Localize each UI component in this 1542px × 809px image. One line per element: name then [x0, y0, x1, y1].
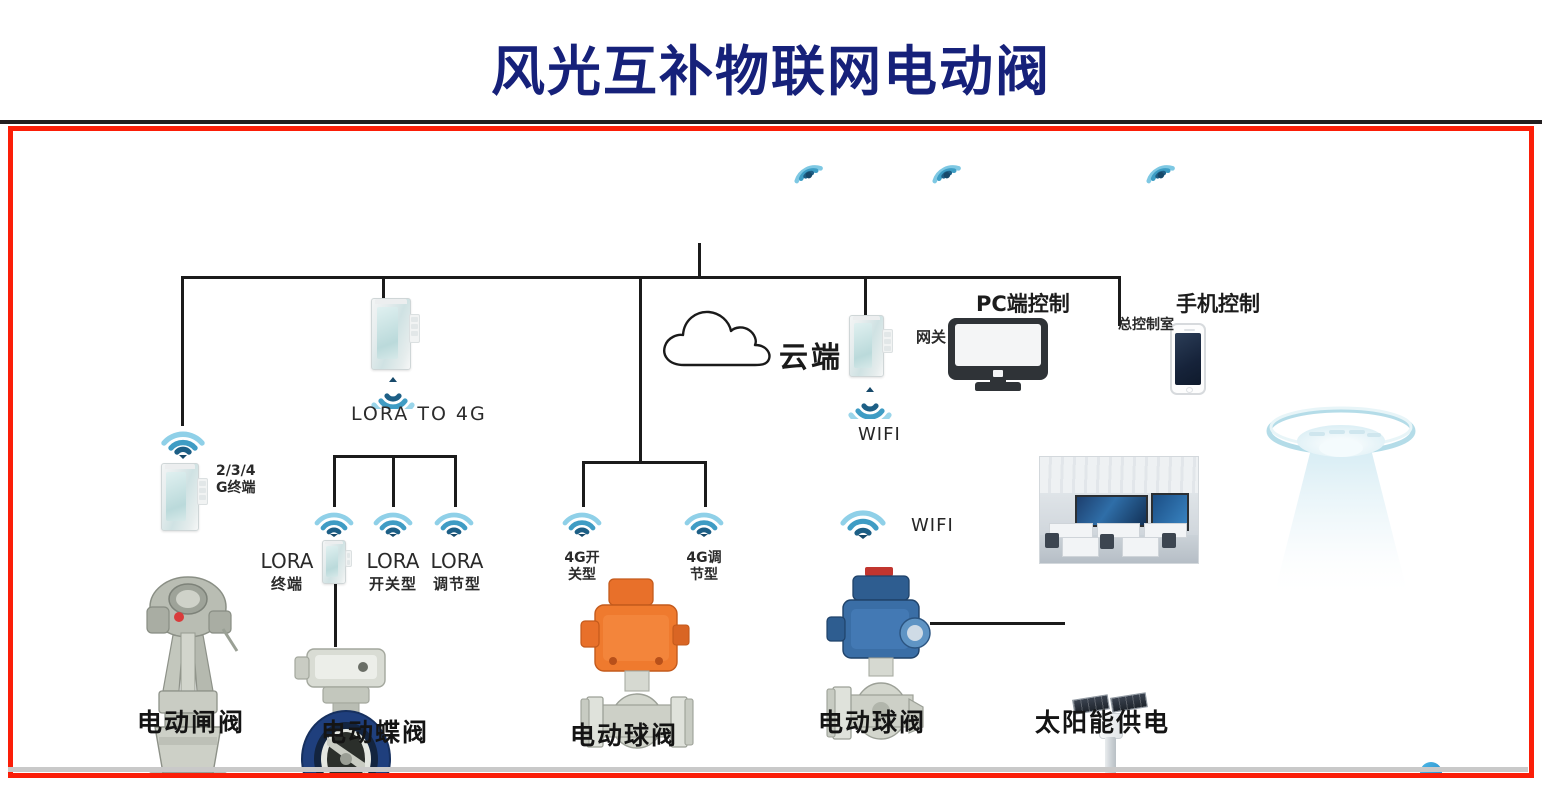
pc-control-label: PC端控制 [976, 288, 1070, 318]
module-body [371, 298, 411, 370]
control-room-photo [1039, 456, 1199, 564]
gateway-protocol-label: WIFI [858, 424, 901, 445]
wifi-signal-icon-lora-regulating [433, 503, 475, 537]
phone-home-button [1186, 387, 1193, 393]
module-cap [853, 316, 881, 320]
wire-main-bus [181, 276, 1121, 279]
lora-terminal-module-icon [322, 540, 346, 584]
smartphone-icon [1170, 323, 1206, 395]
wire-drop-gateway [864, 276, 867, 316]
page-title: 风光互补物联网电动阀 [0, 27, 1542, 106]
page-header: 风光互补物联网电动阀 [0, 0, 1542, 122]
module-body [849, 315, 884, 377]
wifi-gateway-module-icon [849, 315, 884, 377]
room-chair [1162, 533, 1176, 548]
room-chair [1045, 533, 1059, 548]
gate-valve-label: 电动闸阀 [137, 703, 245, 739]
wire-ballvalve-to-solar [930, 622, 1065, 625]
cellular-terminal-label: 2/3/4 G终端 [216, 463, 256, 497]
module-terminal-block [882, 329, 893, 354]
monitor-base [975, 382, 1021, 391]
module-window [854, 323, 872, 367]
phone-earpiece [1184, 329, 1195, 331]
mobile-control-label: 手机控制 [1176, 288, 1260, 318]
wire-cellular-to-gate-valve [181, 276, 184, 426]
wire-lora-terminal-to-valve [334, 579, 337, 647]
room-ceiling [1040, 457, 1198, 493]
diagram-stage: 风光互补物联网电动阀 [0, 0, 1542, 809]
wire-drop-4g-hub [639, 276, 642, 461]
lora-terminal-subtitle: 终端 [254, 573, 320, 596]
room-chair [1100, 534, 1114, 549]
module-terminal-block [197, 478, 208, 505]
wire-lora-drop-1 [333, 455, 336, 507]
diagram-frame: 云端 [8, 126, 1534, 778]
wifi-signal-icon-lora-terminal [313, 503, 355, 537]
module-body [161, 463, 199, 531]
lora-regulating-subtitle: 调节型 [424, 573, 490, 596]
cellular-terminal-module-icon [161, 463, 199, 531]
wifi-signal-icon-4g-regulating [683, 503, 725, 537]
wire-cloud-stem [698, 243, 701, 278]
module-window [166, 472, 186, 521]
cloud-label: 云端 [779, 334, 843, 376]
diagram-canvas: 云端 [13, 131, 1529, 773]
ball-valve-blue-label: 电动球阀 [818, 703, 926, 739]
module-window [326, 546, 338, 577]
monitor-screen [955, 324, 1041, 366]
wifi-signal-icon-4g-switch [561, 503, 603, 537]
wire-lora-drop-2 [392, 455, 395, 507]
lora-regulating-title: LORA [431, 549, 484, 573]
room-desk [1062, 537, 1099, 557]
ufo-beam-icon [1255, 401, 1427, 616]
wifi-signal-icon-ballvalve [839, 501, 887, 539]
cloud-icon [658, 307, 776, 369]
lora-terminal-title: LORA [261, 549, 314, 573]
electric-butterfly-valve-icon [285, 641, 405, 773]
ballvalve-protocol-label: WIFI [911, 515, 954, 536]
module-terminal-block [345, 550, 352, 568]
room-desk [1122, 537, 1159, 557]
wire-4g-drop-2 [704, 461, 707, 507]
lora-terminal-node-label: LORA 终端 [254, 550, 320, 596]
lora-to-4g-label: LORA TO 4G [351, 403, 487, 425]
wifi-signal-down-icon-gateway [845, 381, 895, 419]
solar-power-label: 太阳能供电 [1035, 703, 1170, 739]
electric-gate-valve-icon [133, 559, 243, 773]
lora-gateway-module-icon [371, 298, 411, 370]
phone-screen [1175, 333, 1201, 385]
wire-lora-drop-3 [454, 455, 457, 507]
wifi-signal-icon-cloud [776, 136, 830, 190]
module-terminal-block [409, 314, 420, 343]
wifi-signal-icon-pc [914, 136, 968, 190]
control-room-label: 总控制室 [1118, 314, 1174, 334]
module-body [322, 540, 346, 584]
gateway-label: 网关 [916, 326, 946, 347]
lora-switch-node-label: LORA 开关型 [360, 550, 426, 596]
butterfly-valve-label: 电动蝶阀 [321, 713, 429, 749]
wifi-signal-icon-cellular [159, 419, 207, 459]
module-cap [375, 299, 407, 304]
wire-lora-bus [333, 455, 457, 458]
module-window [377, 307, 398, 359]
wifi-signal-icon-phone [1128, 136, 1182, 190]
header-divider [0, 120, 1542, 124]
wire-4g-drop-1 [582, 461, 585, 507]
footer-divider [8, 767, 1528, 772]
module-cap [325, 541, 343, 544]
lora-switch-subtitle: 开关型 [360, 573, 426, 596]
lora-switch-title: LORA [367, 549, 420, 573]
lora-regulating-node-label: LORA 调节型 [424, 550, 490, 596]
desktop-monitor-icon [948, 318, 1048, 391]
footer-strip [0, 783, 1542, 809]
electric-ball-valve-blue-icon [823, 561, 943, 773]
ball-valve-orange-label: 电动球阀 [570, 716, 678, 752]
wire-4g-bus [582, 461, 704, 464]
wifi-signal-icon-lora-switch [372, 503, 414, 537]
wire-drop-lora4g [382, 276, 385, 298]
monitor-body [948, 318, 1048, 380]
module-cap [165, 464, 195, 469]
monitor-indicator [993, 370, 1003, 377]
